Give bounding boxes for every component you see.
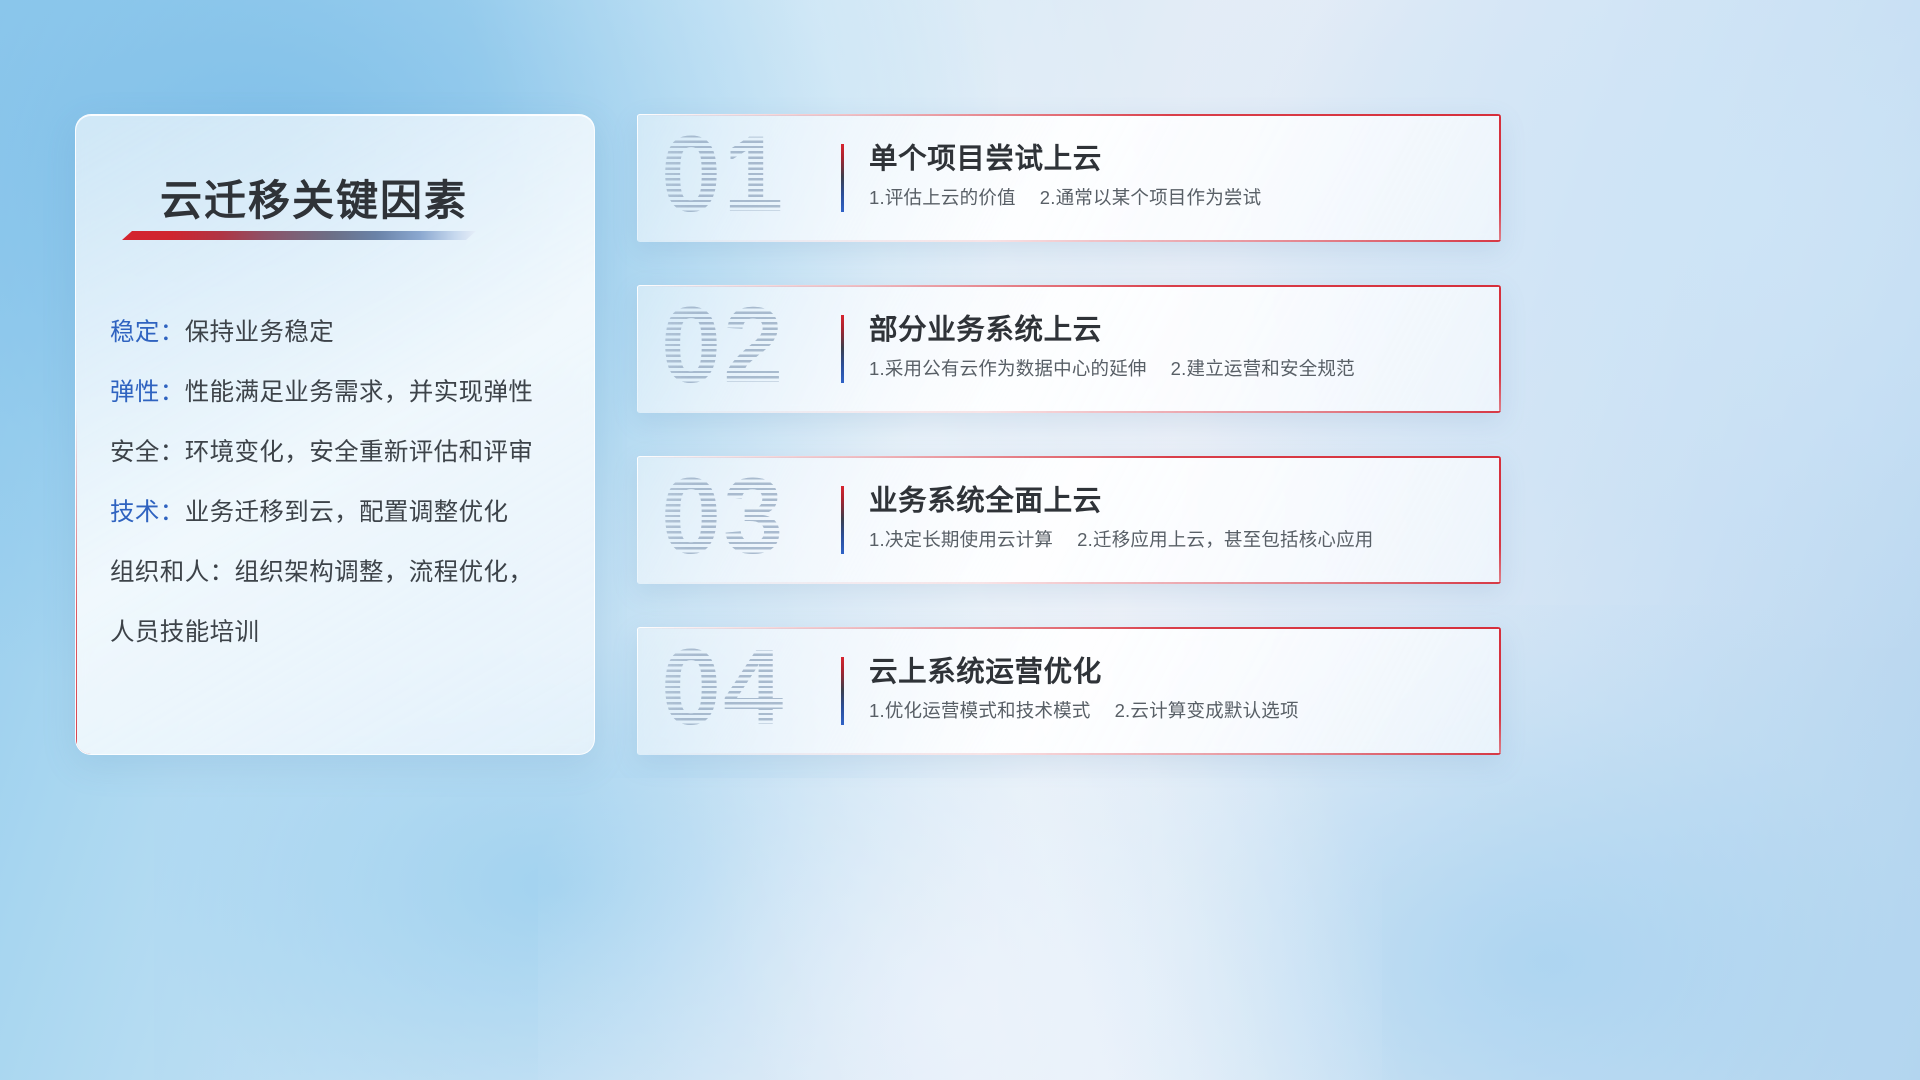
step-subtitle: 1.决定长期使用云计算 2.迁移应用上云，甚至包括核心应用 — [869, 526, 1374, 552]
card-right-accent — [1499, 627, 1501, 755]
list-item-value: 性能满足业务需求，并实现弹性 — [185, 379, 534, 406]
panel-red-edge — [75, 409, 77, 755]
key-factors-list: 稳定：保持业务稳定 弹性：性能满足业务需求，并实现弹性 安全：环境变化，安全重新… — [110, 303, 570, 663]
step-subtitle: 1.评估上云的价值 2.通常以某个项目作为尝试 — [869, 184, 1261, 210]
card-right-accent — [1499, 114, 1501, 242]
step-card[interactable]: 03 03 业务系统全面上云 1.决定长期使用云计算 2.迁移应用上云，甚至包括… — [637, 456, 1501, 584]
step-title: 部分业务系统上云 — [869, 307, 1102, 348]
title-underline-accent — [122, 231, 476, 240]
list-item-label: 弹性： — [110, 379, 185, 406]
list-item: 稳定：保持业务稳定 — [110, 303, 570, 363]
step-title: 云上系统运营优化 — [869, 649, 1102, 690]
step-card[interactable]: 02 02 部分业务系统上云 1.采用公有云作为数据中心的延伸 2.建立运营和安… — [637, 285, 1501, 413]
step-card[interactable]: 01 01 单个项目尝试上云 1.评估上云的价值 2.通常以某个项目作为尝试 — [637, 114, 1501, 242]
step-card[interactable]: 04 04 云上系统运营优化 1.优化运营模式和技术模式 2.云计算变成默认选项 — [637, 627, 1501, 755]
list-item: 技术：业务迁移到云，配置调整优化 — [110, 483, 570, 543]
list-item-label: 技术： — [110, 499, 185, 526]
page-title: 云迁移关键因素 — [160, 167, 468, 228]
list-item: 安全：环境变化，安全重新评估和评审 — [110, 423, 570, 483]
card-right-accent — [1499, 285, 1501, 413]
step-number-ghost: 02 — [661, 285, 785, 411]
step-divider — [841, 486, 844, 554]
step-divider — [841, 144, 844, 212]
step-number-area: 04 04 — [637, 627, 851, 755]
step-number-ghost: 01 — [661, 114, 785, 240]
list-item-value: 环境变化，安全重新评估和评审 — [185, 439, 534, 466]
step-number-ghost: 04 — [661, 627, 785, 753]
list-item: 组织和人：组织架构调整，流程优化， — [110, 543, 570, 603]
step-number-ghost: 03 — [661, 456, 785, 582]
list-item-label: 安全： — [110, 439, 185, 466]
step-divider — [841, 657, 844, 725]
list-item-value: 业务迁移到云，配置调整优化 — [185, 499, 509, 526]
list-item: 弹性：性能满足业务需求，并实现弹性 — [110, 363, 570, 423]
list-item-continuation: 人员技能培训 — [110, 603, 570, 663]
list-item-label: 稳定： — [110, 319, 185, 346]
step-number-area: 01 01 — [637, 114, 851, 242]
migration-steps-list: 01 01 单个项目尝试上云 1.评估上云的价值 2.通常以某个项目作为尝试 0… — [637, 114, 1501, 798]
step-title: 单个项目尝试上云 — [869, 136, 1102, 177]
step-divider — [841, 315, 844, 383]
card-right-accent — [1499, 456, 1501, 584]
list-item-value: 保持业务稳定 — [185, 319, 334, 346]
key-factors-panel: 云迁移关键因素 稳定：保持业务稳定 弹性：性能满足业务需求，并实现弹性 安全：环… — [75, 114, 595, 755]
step-number-area: 03 03 — [637, 456, 851, 584]
list-item-value: 组织架构调整，流程优化， — [235, 559, 534, 586]
step-title: 业务系统全面上云 — [869, 478, 1102, 519]
step-number-area: 02 02 — [637, 285, 851, 413]
step-subtitle: 1.优化运营模式和技术模式 2.云计算变成默认选项 — [869, 697, 1299, 723]
step-subtitle: 1.采用公有云作为数据中心的延伸 2.建立运营和安全规范 — [869, 355, 1355, 381]
list-item-label: 组织和人： — [110, 559, 235, 586]
